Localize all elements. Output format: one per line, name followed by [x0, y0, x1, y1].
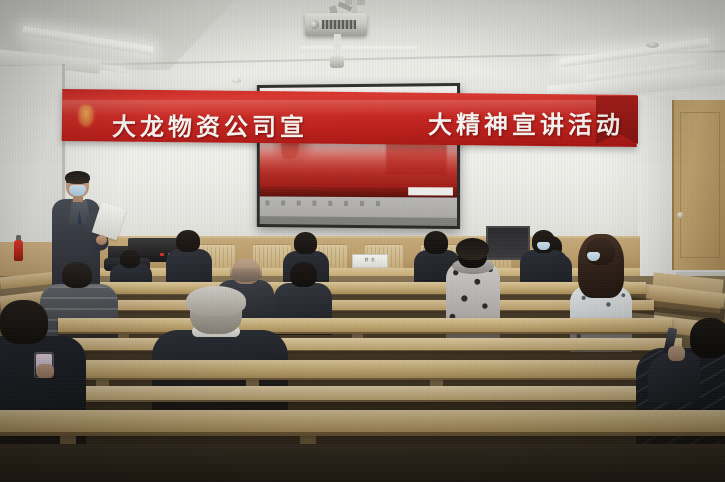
- bench-row-near-underside: [0, 444, 725, 482]
- attendee-hair: [456, 238, 489, 260]
- speaker-hand: [96, 235, 107, 245]
- desk-nameplate-text: 姓 名: [352, 257, 388, 263]
- attendee-head: [294, 232, 317, 254]
- attendee-head: [176, 230, 200, 252]
- right-wall: [638, 96, 676, 276]
- attendee-head: [290, 262, 317, 287]
- bench-row-third-desktop: [20, 360, 710, 380]
- door-handle-icon[interactable]: [677, 212, 684, 219]
- slide-corner-tag: [408, 187, 453, 195]
- meeting-room-photo: 中共北京市大龙物资有限公司 党员大会 大龙物资公司宣 大精神宣讲活动 姓 名: [0, 0, 725, 482]
- attendee-hand: [36, 364, 54, 378]
- attendee-hair-grey: [186, 286, 246, 316]
- banner-text-left: 大龙物资公司宣: [112, 107, 308, 142]
- projector-vent: [322, 20, 356, 29]
- face-mask-icon: [69, 185, 86, 196]
- attendee-head: [0, 300, 48, 344]
- door-panel: [680, 112, 720, 258]
- attendee-hair-fringe: [230, 268, 262, 282]
- attendee-head: [690, 318, 725, 358]
- banner-text-right: 大精神宣讲活动: [428, 105, 624, 140]
- attendee-head: [424, 231, 448, 254]
- banner-emblem-icon: [78, 105, 94, 127]
- attendee-hand: [668, 346, 685, 361]
- desktop-icons: [266, 200, 384, 206]
- smoke-detector-icon: [646, 42, 659, 48]
- smoke-detector-icon: [232, 78, 241, 83]
- power-led-icon: [160, 253, 164, 256]
- ceiling-light-tube-center: [300, 46, 418, 52]
- attendee-head: [62, 262, 92, 288]
- projector-drop-knob: [330, 56, 344, 68]
- fire-extinguisher-icon: [14, 240, 23, 261]
- speaker-hair: [65, 171, 90, 184]
- attendee-head: [120, 250, 140, 268]
- projector-lens-icon: [310, 20, 319, 29]
- bench-row-second-shadow: [48, 350, 682, 360]
